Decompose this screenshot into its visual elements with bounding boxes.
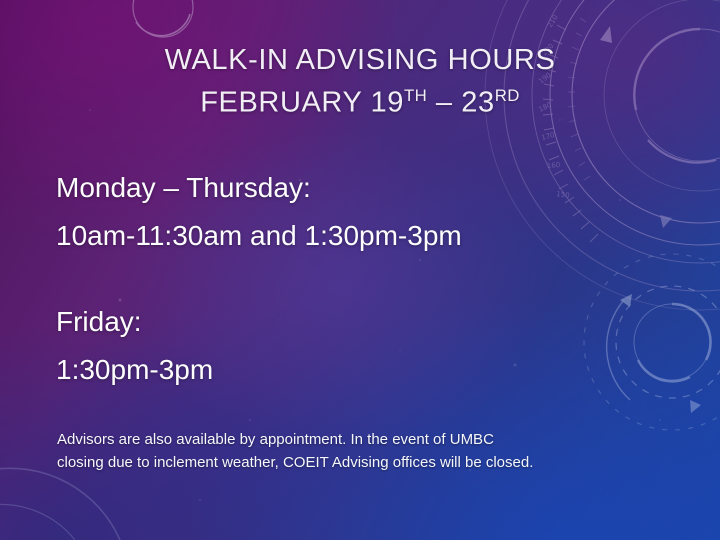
slide-content: WALK-IN ADVISING HOURS FEBRUARY 19TH – 2…: [0, 0, 720, 540]
friday-label: Friday:: [56, 298, 462, 346]
slide-title-ordinal-th: TH: [404, 86, 427, 105]
slide-title: WALK-IN ADVISING HOURS FEBRUARY 19TH – 2…: [0, 42, 720, 121]
body-spacer: [56, 260, 462, 298]
presentation-slide: 210 200 190 180 170 160 150: [0, 0, 720, 540]
slide-title-range-end: – 23: [427, 87, 495, 119]
slide-body: Monday – Thursday: 10am-11:30am and 1:30…: [56, 164, 462, 394]
footnote-line-2: closing due to inclement weather, COEIT …: [57, 451, 657, 474]
weekday-label: Monday – Thursday:: [56, 164, 462, 212]
weekday-hours: 10am-11:30am and 1:30pm-3pm: [56, 212, 462, 260]
slide-title-line-2: FEBRUARY 19TH – 23RD: [0, 78, 720, 121]
friday-hours: 1:30pm-3pm: [56, 346, 462, 394]
footnote-line-1: Advisors are also available by appointme…: [57, 428, 657, 451]
slide-title-line-1: WALK-IN ADVISING HOURS: [0, 42, 720, 78]
slide-title-month-day: FEBRUARY 19: [200, 87, 404, 119]
slide-title-ordinal-rd: RD: [495, 86, 520, 105]
slide-footnote: Advisors are also available by appointme…: [57, 428, 657, 474]
